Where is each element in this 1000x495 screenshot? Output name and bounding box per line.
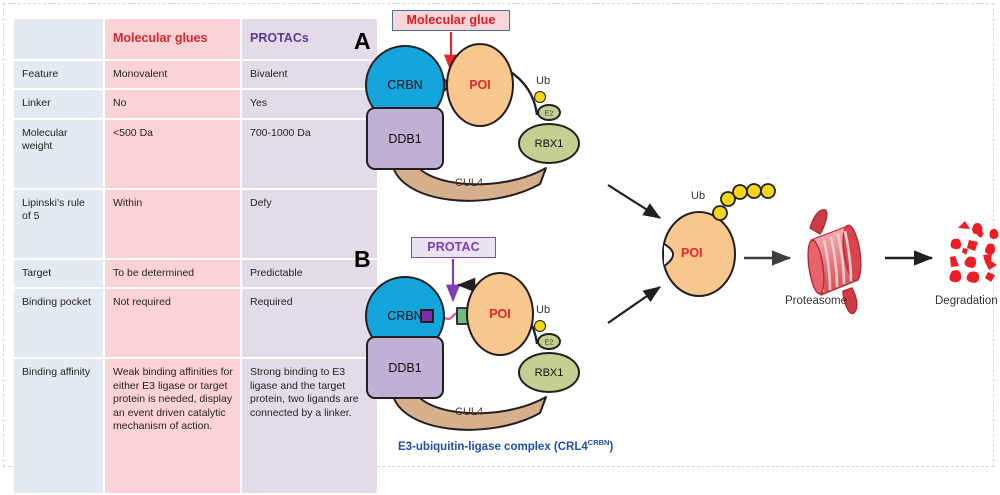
row-feature-label: Feature — [14, 60, 104, 89]
panel-a-letter: A — [354, 28, 371, 55]
degradation-fragments — [949, 221, 998, 283]
proteasome-label: Proteasome — [785, 295, 847, 307]
comparison-table: Molecular glues PROTACs Feature Monovale… — [14, 19, 377, 495]
row-feature-label: Binding pocket — [14, 288, 104, 358]
caption-superscript: CRBN — [588, 438, 610, 447]
degradation-label: Degradation — [935, 295, 998, 307]
table-row: Lipinski’s rule of 5 Within Defy — [14, 189, 377, 259]
poi-shape-b: POI — [466, 272, 534, 356]
molecular-glue-label-box: Molecular glue — [392, 10, 510, 31]
caption-main: E3-ubiquitin-ligase complex (CRL4 — [398, 441, 588, 453]
ddb1-shape-a: DDB1 — [366, 107, 444, 170]
arrow-a-to-poi — [608, 185, 660, 218]
poi-shape-a: POI — [446, 43, 514, 127]
e2-shape-a: E2 — [537, 104, 561, 121]
row-glue-value: Within — [104, 189, 241, 259]
panel-b-letter: B — [354, 246, 371, 273]
crbn-label-a: CRBN — [367, 78, 443, 92]
table-row: Linker No Yes — [14, 89, 377, 118]
ddb1-shape-b: DDB1 — [366, 336, 444, 399]
row-glue-value: Monovalent — [104, 60, 241, 89]
protac-e3-ligand-shape — [420, 309, 434, 323]
row-feature-label: Molecular weight — [14, 119, 104, 189]
poi-label-a: POI — [448, 78, 512, 92]
row-feature-label: Lipinski’s rule of 5 — [14, 189, 104, 259]
caption-end: ) — [609, 441, 613, 453]
rbx1-shape-a: RBX1 — [518, 123, 580, 164]
table-row: Feature Monovalent Bivalent — [14, 60, 377, 89]
row-glue-value: <500 Da — [104, 119, 241, 189]
row-glue-value: Weak binding affinities for either E3 li… — [104, 358, 241, 494]
mechanism-diagram: A Molecular glue CRBN DDB1 POI CUL4 RBX1… — [340, 0, 1000, 473]
table-row: Molecular weight <500 Da 700-1000 Da — [14, 119, 377, 189]
table-header-row: Molecular glues PROTACs — [14, 19, 377, 60]
row-feature-label: Linker — [14, 89, 104, 118]
ddb1-label-a: DDB1 — [368, 132, 442, 146]
rbx1-label-b: RBX1 — [520, 367, 578, 379]
table-row: Target To be determined Predictable — [14, 259, 377, 288]
ub-dot-a — [534, 91, 546, 103]
ub-dot-b — [534, 320, 546, 332]
ddb1-label-b: DDB1 — [368, 361, 442, 375]
protac-label-box: PROTAC — [411, 237, 496, 258]
poi-label-b: POI — [468, 307, 532, 321]
e2-label-b: E2 — [539, 337, 559, 346]
rbx1-label-a: RBX1 — [520, 138, 578, 150]
central-poi-label: POI — [681, 246, 703, 260]
table-row: Binding pocket Not required Required — [14, 288, 377, 358]
e2-label-a: E2 — [539, 108, 559, 117]
ub-label-b: Ub — [536, 304, 550, 316]
cul4-label-b: CUL4 — [455, 406, 483, 418]
row-feature-label: Target — [14, 259, 104, 288]
row-glue-value: To be determined — [104, 259, 241, 288]
ub-label-a: Ub — [536, 75, 550, 87]
row-glue-value: Not required — [104, 288, 241, 358]
e3-complex-caption: E3-ubiquitin-ligase complex (CRL4CRBN) — [398, 438, 613, 453]
ub-chain — [713, 184, 775, 220]
arrow-b-to-poi — [608, 287, 660, 323]
header-cell-molecular-glues: Molecular glues — [104, 19, 241, 60]
table-row: Binding affinity Weak binding affinities… — [14, 358, 377, 494]
ub-chain-label: Ub — [691, 190, 705, 202]
header-cell-blank — [14, 19, 104, 60]
rbx1-shape-b: RBX1 — [518, 352, 580, 393]
cul4-label-a: CUL4 — [455, 177, 483, 189]
row-feature-label: Binding affinity — [14, 358, 104, 494]
row-glue-value: No — [104, 89, 241, 118]
e2-shape-b: E2 — [537, 333, 561, 350]
